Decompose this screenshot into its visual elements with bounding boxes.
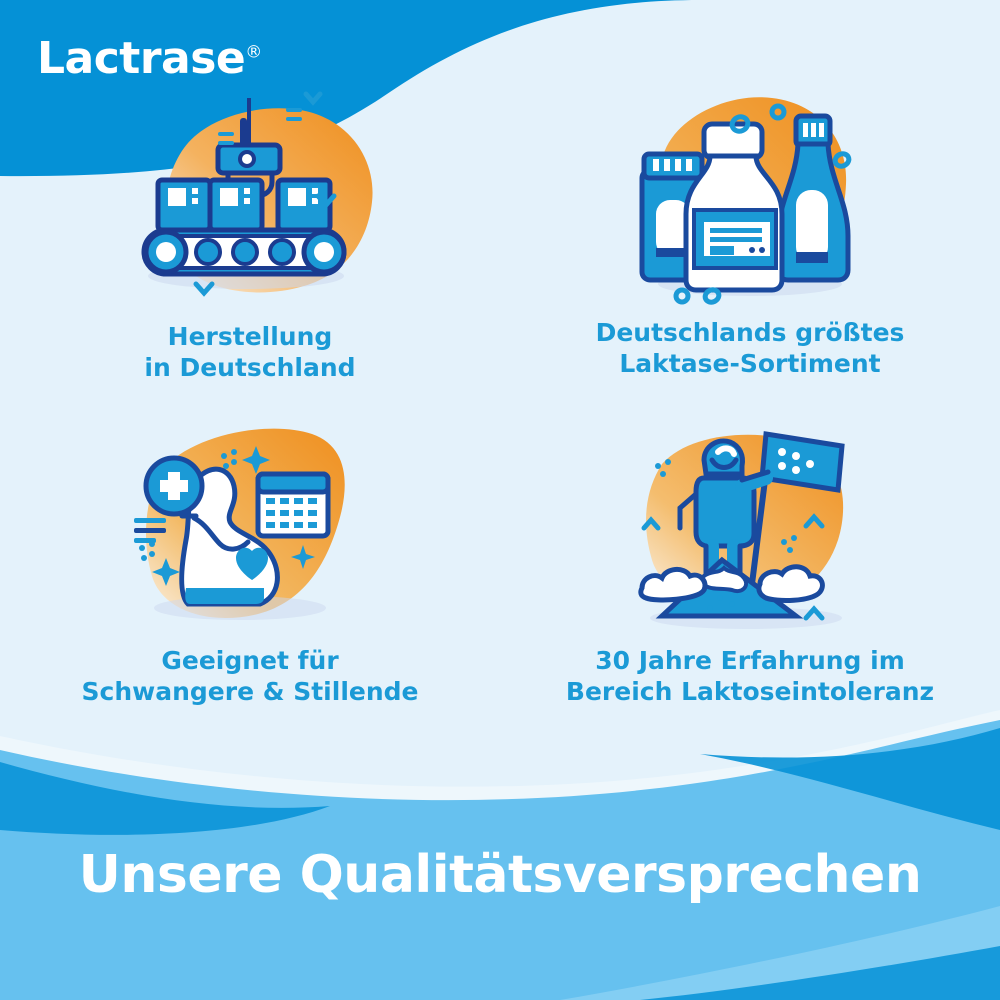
feature-caption: 30 Jahre Erfahrung im Bereich Laktoseint… [566,646,934,707]
feature-caption-line2: Schwangere & Stillende [82,677,419,708]
feature-caption-line1: Geeignet für [82,646,419,677]
feature-caption-line1: Deutschlands größtes [596,318,905,349]
feature-caption-line2: Bereich Laktoseintoleranz [566,677,934,708]
feature-card-herstellung: Herstellung in Deutschland [0,78,500,398]
feature-caption: Herstellung in Deutschland [144,322,355,383]
feature-caption-line2: Laktase-Sortiment [596,349,905,380]
brand-logo-text: Lactrase [37,33,245,84]
footer-headline: Unsere Qualitätsversprechen [0,845,1000,905]
feature-card-erfahrung: 30 Jahre Erfahrung im Bereich Laktoseint… [500,398,1000,718]
mountain-flag-icon [600,412,900,640]
factory-conveyor-icon [100,88,400,316]
registered-trademark-icon: ® [245,42,262,62]
feature-caption-line1: Herstellung [144,322,355,353]
poster-canvas: Lactrase® [0,0,1000,1000]
feature-caption: Deutschlands größtes Laktase-Sortiment [596,318,905,379]
pregnant-woman-icon [100,412,400,640]
feature-card-schwangere: Geeignet für Schwangere & Stillende [0,398,500,718]
feature-card-sortiment: Deutschlands größtes Laktase-Sortiment [500,78,1000,398]
brand-logo: Lactrase® [37,33,262,84]
feature-caption-line1: 30 Jahre Erfahrung im [566,646,934,677]
product-bottles-icon [600,84,900,312]
footer-wave-band: Unsere Qualitätsversprechen [0,710,1000,1000]
feature-caption-line2: in Deutschland [144,353,355,384]
features-grid: Herstellung in Deutschland [0,78,1000,718]
feature-caption: Geeignet für Schwangere & Stillende [82,646,419,707]
